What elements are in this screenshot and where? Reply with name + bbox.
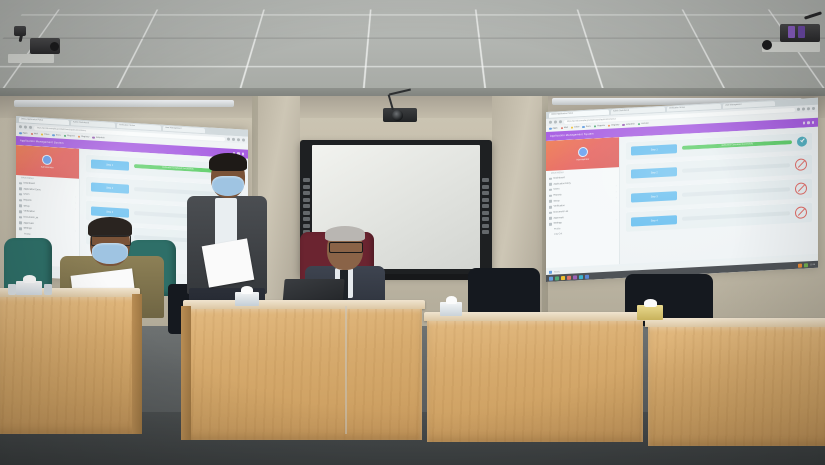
sidebar-item-label: Document List xyxy=(24,216,39,219)
bookmark-item[interactable]: Helpdesk xyxy=(92,136,104,139)
menu-kebab-icon[interactable] xyxy=(242,138,245,141)
ceiling-tile-grid xyxy=(0,9,825,96)
app-title: Application Management System xyxy=(550,132,594,137)
bookmark-label: Docs xyxy=(586,126,591,128)
step-button[interactable]: Step 2 xyxy=(91,182,129,193)
forward-icon[interactable] xyxy=(24,125,27,128)
desk-left xyxy=(0,288,140,434)
sidebar-item-label: Users xyxy=(24,194,30,196)
chevron-right-icon: › xyxy=(616,197,617,199)
desk-right-one xyxy=(424,312,646,442)
hair xyxy=(88,217,132,237)
bookmark-label: Reports xyxy=(597,125,605,127)
taskbar-icon-browser[interactable] xyxy=(549,276,553,280)
whiteboard-buttons-right[interactable] xyxy=(482,178,489,234)
chevron-right-icon: › xyxy=(75,202,76,204)
sidebar-item-label: Dashboard xyxy=(554,177,565,180)
sidebar-item-label: Application Entry xyxy=(24,188,41,191)
start-icon[interactable] xyxy=(549,271,552,274)
chevron-right-icon: › xyxy=(616,220,617,222)
ceiling xyxy=(0,0,825,96)
bookmark-item[interactable]: Helpdesk xyxy=(622,123,634,126)
light-fixture-left xyxy=(14,100,234,107)
dashboard-icon xyxy=(549,177,552,180)
step-button[interactable]: Step 3 xyxy=(631,191,677,202)
gear-icon xyxy=(549,223,552,226)
taskbar-icon-tray[interactable] xyxy=(798,263,802,267)
sidebar-user-name: Administrator xyxy=(576,159,589,162)
ceiling-projector-left xyxy=(4,24,62,64)
back-icon[interactable] xyxy=(19,125,22,128)
chevron-right-icon: › xyxy=(616,186,617,188)
sidebar-item-label: Document List xyxy=(554,211,569,214)
taskbar-icon-editor[interactable] xyxy=(573,275,577,279)
sidebar-item-label: Reports xyxy=(24,199,32,201)
document-camera xyxy=(383,108,417,122)
status-blocked-icon xyxy=(795,182,807,195)
star-icon[interactable] xyxy=(797,108,800,111)
step-row[interactable]: Step 4 xyxy=(626,202,812,232)
desk-front-panel xyxy=(186,309,422,440)
taskbar-icon-media[interactable] xyxy=(579,275,583,279)
progress-track xyxy=(682,163,790,173)
extensions-icon[interactable] xyxy=(802,107,805,110)
desk-top xyxy=(183,300,425,309)
bookmark-label: Apps xyxy=(553,127,558,129)
extensions-icon[interactable] xyxy=(232,138,235,141)
reload-icon[interactable] xyxy=(29,126,32,129)
sidebar-item-label: Verification xyxy=(554,205,565,208)
desk-top xyxy=(645,318,825,327)
bookmark-item[interactable]: Archive xyxy=(638,122,649,125)
verify-icon xyxy=(549,206,552,209)
status-blocked-icon xyxy=(795,158,807,171)
taskbar-icon-pdf[interactable] xyxy=(567,275,571,279)
glasses-icon xyxy=(329,242,363,253)
taskbar-clock: 12:48 xyxy=(810,263,815,265)
tissue-puff xyxy=(23,275,36,283)
bookmark-label: Mail xyxy=(564,127,568,129)
star-icon[interactable] xyxy=(227,138,230,141)
tissue-box-left-desk xyxy=(16,281,42,295)
progress-track xyxy=(682,211,790,221)
bookmark-label: Archive xyxy=(641,123,648,125)
sidebar-item-label: Users xyxy=(554,189,560,191)
tissue-box-right-two xyxy=(637,305,663,320)
chevron-right-icon: › xyxy=(616,191,617,193)
step-button[interactable]: Step 1 xyxy=(91,159,129,170)
status-blocked-icon xyxy=(795,206,807,219)
app-content: Step 1 Verification Completed Successful… xyxy=(620,127,818,264)
desk-center xyxy=(183,300,425,440)
desk-front-panel xyxy=(648,327,825,446)
sidebar-item-label: Approvals xyxy=(24,222,34,225)
taskbar-icon-network[interactable] xyxy=(804,263,808,267)
bookmark-label: Reports xyxy=(67,135,75,137)
gear-icon xyxy=(19,227,22,230)
power-cable xyxy=(345,306,347,434)
taskbar-icon-chat[interactable] xyxy=(585,274,589,278)
conference-room-photo: Online Application Portal Admin Dashboar… xyxy=(0,0,825,465)
sidebar-item-label: Profile xyxy=(554,228,561,230)
taskbar-icon-sheets[interactable] xyxy=(555,276,559,280)
desk-front-panel xyxy=(0,297,137,434)
users-icon xyxy=(19,193,22,196)
face-mask xyxy=(212,176,244,196)
step-button[interactable]: Step 2 xyxy=(631,167,677,178)
hair-grey xyxy=(325,226,365,241)
taskbar-icon-folder[interactable] xyxy=(561,276,565,280)
step-button[interactable]: Step 3 xyxy=(91,206,129,217)
user-avatar-icon xyxy=(578,147,588,158)
sidebar-item-label: Setup xyxy=(554,200,560,202)
bookmark-item[interactable]: Apps xyxy=(549,127,558,130)
bookmark-label: Helpdesk xyxy=(626,123,635,125)
progress-fill: Verification Completed Successfully xyxy=(682,140,792,150)
bookmark-label: Registry xyxy=(81,136,89,138)
face-mask xyxy=(92,243,128,264)
form-icon xyxy=(549,183,552,186)
hair xyxy=(209,153,247,171)
sidebar-item-label: Setup xyxy=(24,205,30,207)
papers-held xyxy=(202,238,255,287)
menu-kebab-icon[interactable] xyxy=(812,107,815,110)
desk-front-panel xyxy=(427,321,643,442)
bookmark-label: Registry xyxy=(611,124,619,126)
document-icon xyxy=(549,211,552,214)
ceiling-projector-right xyxy=(760,16,824,60)
report-icon xyxy=(19,199,22,202)
status-check-icon xyxy=(797,136,807,147)
tissue-puff xyxy=(446,296,457,304)
camera-lens-icon xyxy=(392,110,403,121)
desk-side-panel xyxy=(181,306,191,440)
bookmark-item[interactable]: Docs xyxy=(52,134,60,137)
document-icon xyxy=(19,216,22,219)
right-projection-screen[interactable]: Online Application Portal Admin Dashboar… xyxy=(546,98,818,282)
tissue-box-right-one xyxy=(440,302,462,316)
verify-icon xyxy=(19,210,22,213)
sidebar-item-label: Verification xyxy=(24,211,35,214)
bookmark-label: Drive xyxy=(44,134,49,136)
user-avatar-icon xyxy=(42,155,52,166)
progress-track xyxy=(682,187,790,197)
bookmark-item[interactable]: Drive xyxy=(41,133,50,136)
desk-right-two xyxy=(645,318,825,446)
bookmark-item[interactable]: Drive xyxy=(571,126,580,129)
sidebar-item-label: Dashboard xyxy=(24,182,35,185)
form-icon xyxy=(19,187,22,190)
sidebar-item-label: Settings xyxy=(24,228,32,230)
sidebar-user-name: Administrator xyxy=(41,166,54,169)
app-body: Administrator MAIN MENU Dashboard Applic… xyxy=(546,127,818,268)
desk-side-panel xyxy=(132,294,142,434)
sanitizer-bottle-two xyxy=(44,284,52,295)
bookmark-item[interactable]: Registry xyxy=(78,135,90,138)
approval-icon xyxy=(549,217,552,220)
tissue-puff xyxy=(241,286,253,294)
setup-icon xyxy=(549,200,552,203)
status-text: Ready xyxy=(554,271,560,273)
bookmark-item[interactable]: Mail xyxy=(561,127,568,130)
back-icon[interactable] xyxy=(549,121,552,124)
setup-icon xyxy=(19,205,22,208)
bookmark-item[interactable]: Mail xyxy=(31,133,38,136)
approval-icon xyxy=(19,222,22,225)
sidebar-item-label: Application Entry xyxy=(554,182,571,185)
sidebar-user-header: Administrator xyxy=(546,137,619,171)
bookmark-item[interactable]: Apps xyxy=(19,132,28,135)
bookmark-label: Docs xyxy=(56,134,61,136)
bookmark-label: Drive xyxy=(574,126,579,128)
report-icon xyxy=(549,194,552,197)
forward-icon[interactable] xyxy=(554,120,557,123)
sanitizer-bottle-one xyxy=(8,284,16,295)
app-title: Application Management System xyxy=(20,139,64,145)
profile-avatar-icon[interactable] xyxy=(807,107,810,110)
bookmark-label: Mail xyxy=(34,133,38,135)
progress-track: Verification Completed Successfully xyxy=(682,140,792,150)
bookmark-label: Helpdesk xyxy=(96,137,105,140)
bookmark-item[interactable]: Docs xyxy=(582,125,590,128)
tissue-puff xyxy=(644,299,657,307)
chevron-right-icon: › xyxy=(75,197,76,199)
sidebar-item-label: Log Out xyxy=(554,233,562,235)
sidebar-item-label: Reports xyxy=(554,194,562,196)
bookmark-label: Apps xyxy=(23,132,28,134)
sidebar-item-label: Approvals xyxy=(554,217,564,220)
reload-icon[interactable] xyxy=(559,120,562,123)
sidebar-item-label: Settings xyxy=(554,223,562,225)
bookmark-item[interactable]: Reports xyxy=(64,135,75,138)
sidebar-item-label: Profile xyxy=(24,233,31,235)
step-button[interactable]: Step 1 xyxy=(631,144,677,155)
tissue-box-center-desk xyxy=(235,292,259,306)
dress-shirt xyxy=(215,198,237,246)
dashboard-icon xyxy=(19,182,22,185)
chevron-right-icon: › xyxy=(75,208,76,210)
bookmark-item[interactable]: Reports xyxy=(594,125,605,128)
profile-avatar-icon[interactable] xyxy=(237,138,240,141)
window-controls[interactable] xyxy=(803,121,815,124)
sidebar-user-header: Administrator xyxy=(16,145,79,179)
app-sidebar[interactable]: Administrator MAIN MENU Dashboard Applic… xyxy=(546,137,620,268)
users-icon xyxy=(549,189,552,192)
step-button[interactable]: Step 4 xyxy=(631,215,677,226)
bookmark-item[interactable]: Registry xyxy=(608,124,620,127)
